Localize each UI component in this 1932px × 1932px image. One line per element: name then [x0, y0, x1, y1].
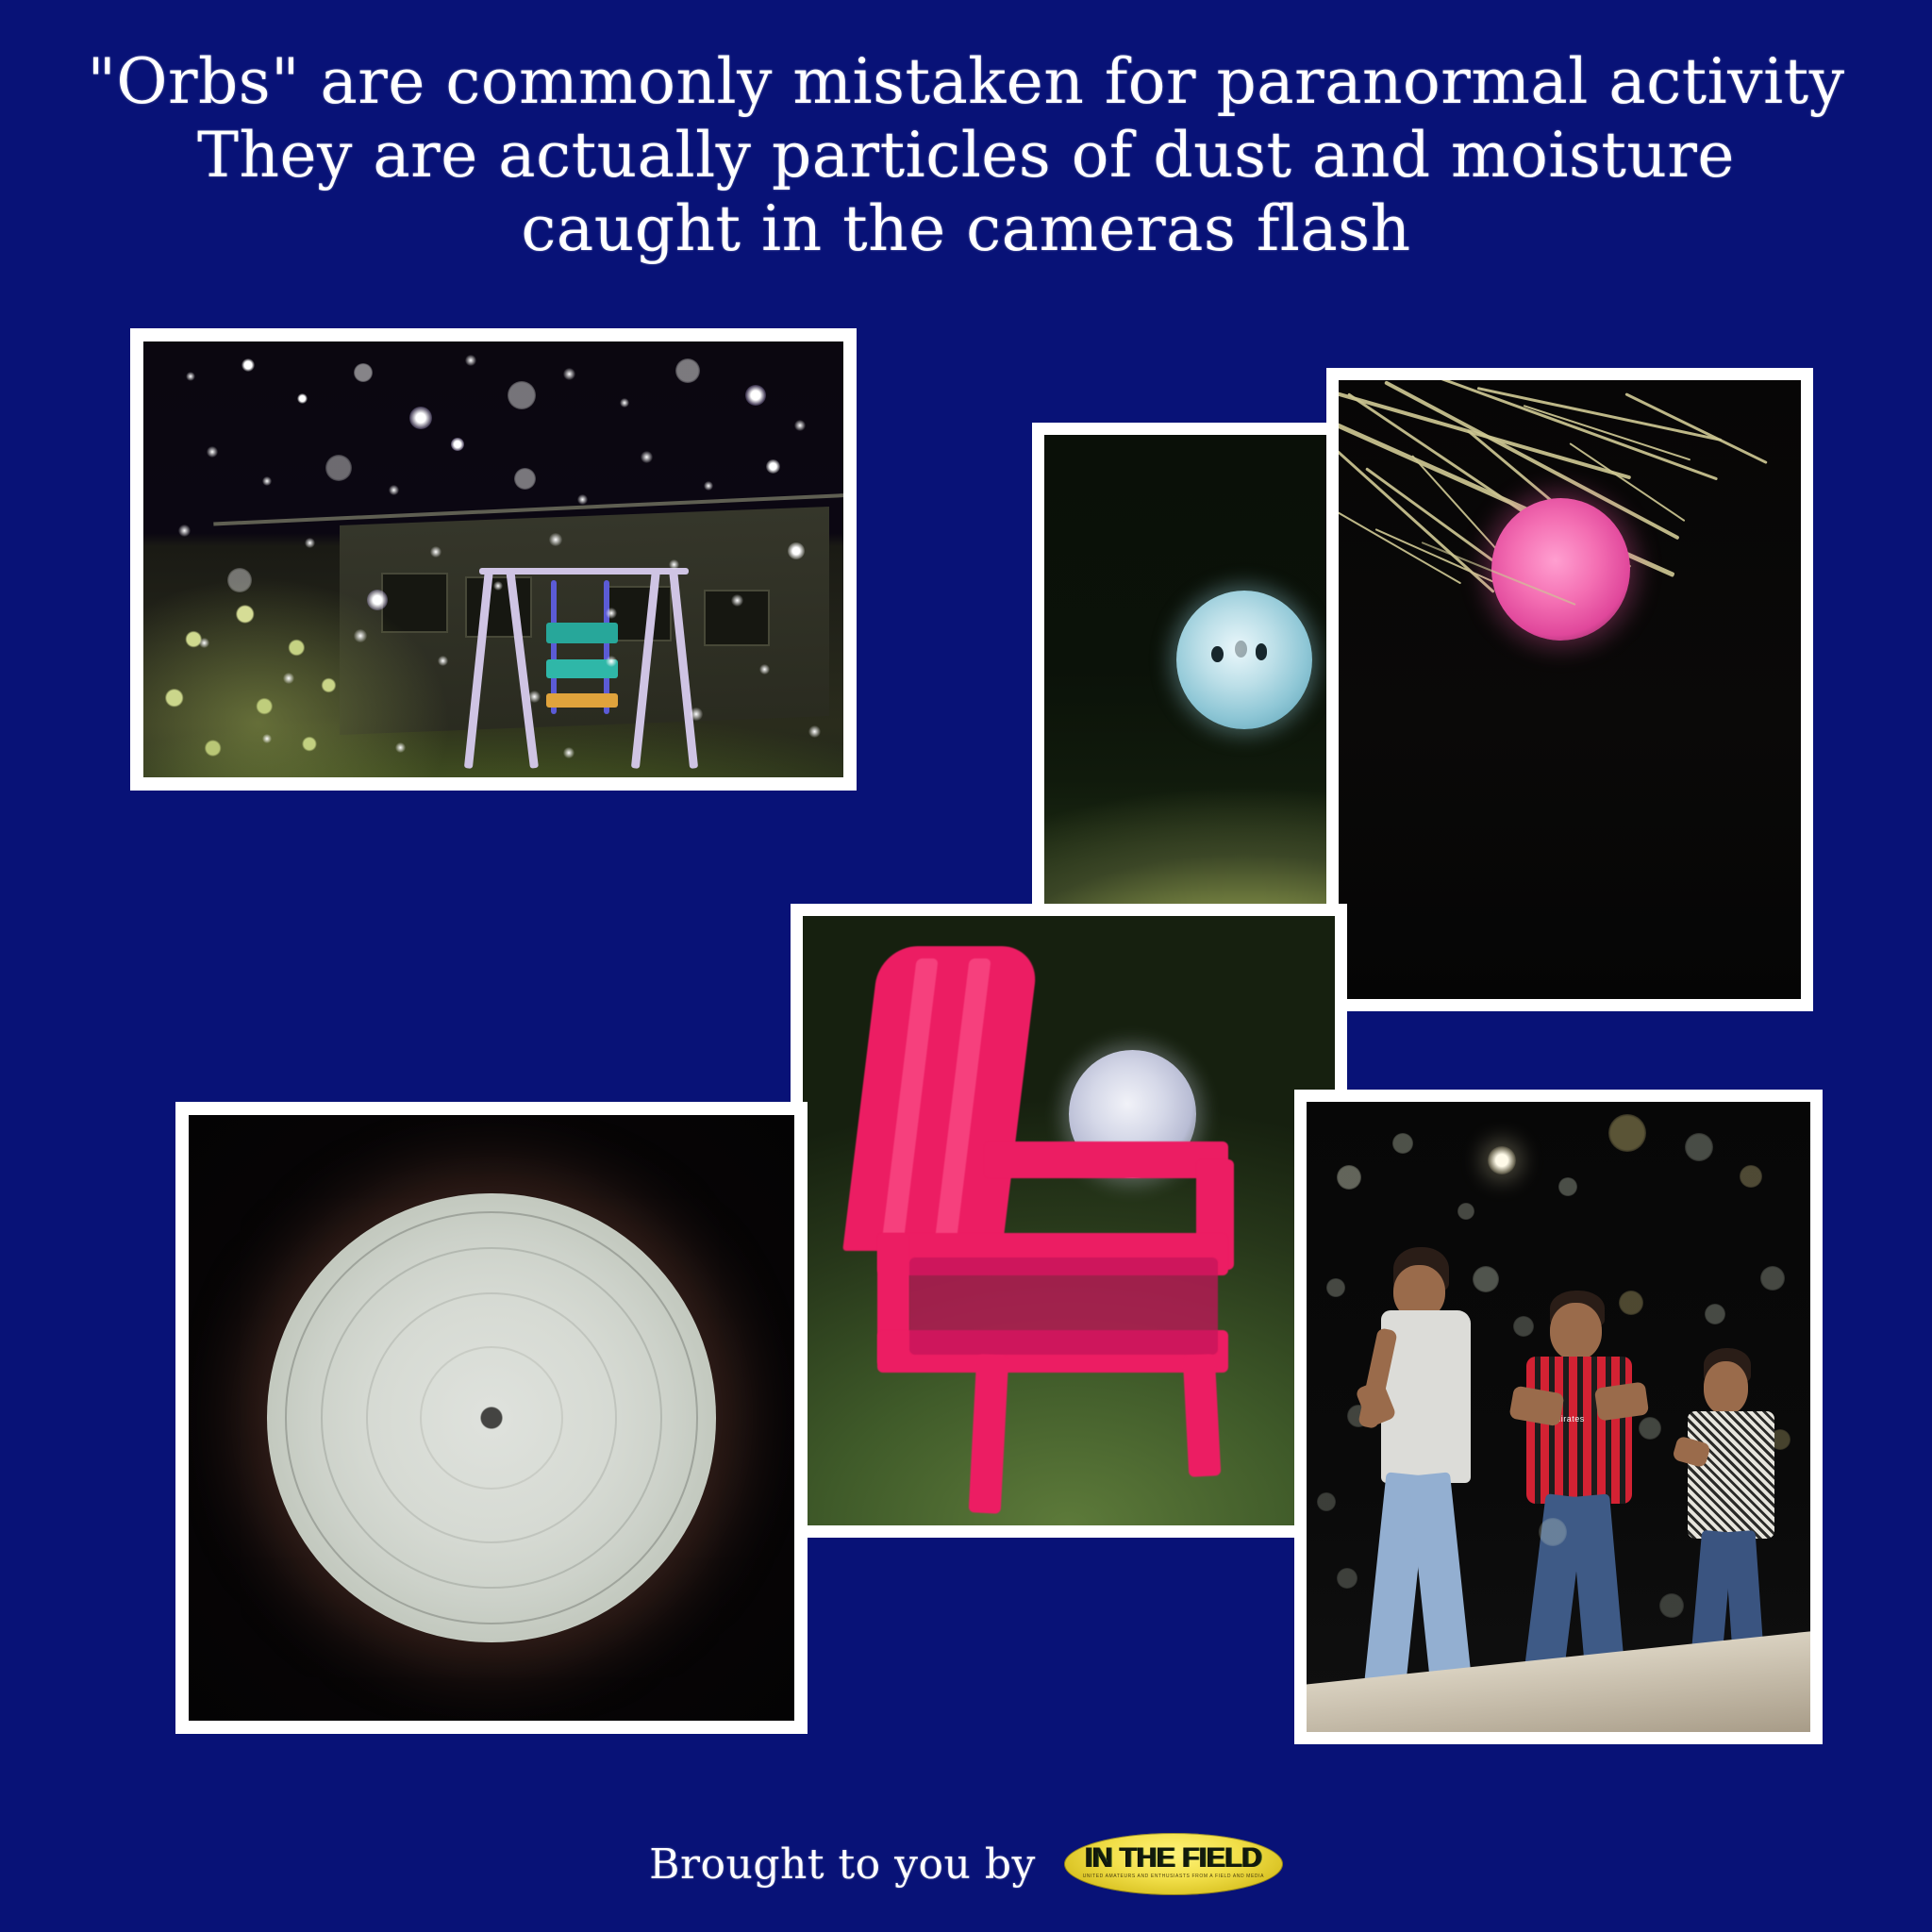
headline-line-2: They are actually particles of dust and … — [0, 119, 1932, 192]
person-center: Emirates — [1508, 1291, 1659, 1700]
person-left — [1352, 1247, 1513, 1701]
foliage-bush — [143, 576, 451, 777]
emirates-jersey — [1526, 1357, 1632, 1504]
photo-pink-orb-branches-image — [1339, 380, 1801, 999]
logo-tagline: UNITED AMATEURS AND ENTHUSIASTS FROM A F… — [1083, 1874, 1264, 1880]
blue-orb — [1176, 591, 1312, 729]
chair-rear-leg — [1183, 1354, 1222, 1477]
house-window — [704, 590, 771, 645]
photo-house-swing-orbs-image — [143, 341, 843, 777]
chair-seat-face — [909, 1257, 1218, 1355]
photo-closeup-orb — [175, 1102, 808, 1734]
closeup-orb — [267, 1193, 715, 1641]
photo-house-swing-orbs — [130, 328, 857, 791]
headline-line-3: caught in the cameras flash — [0, 192, 1932, 266]
poster-canvas: "Orbs" are commonly mistaken for paranor… — [0, 0, 1932, 1932]
chair-armrest — [984, 1141, 1228, 1178]
photo-people-bokeh-orbs: Emirates — [1294, 1090, 1823, 1744]
swing-set — [465, 559, 703, 769]
photo-closeup-orb-image — [189, 1115, 794, 1721]
credit-text: Brought to you by — [649, 1840, 1036, 1889]
chair-front-leg — [969, 1354, 1009, 1513]
footer: Brought to you by IN THE FIELD UNITED AM… — [0, 1833, 1932, 1895]
photo-pink-orb-branches — [1326, 368, 1813, 1011]
page-title: "Orbs" are commonly mistaken for paranor… — [0, 45, 1932, 266]
logo-wordmark: IN THE FIELD — [1085, 1844, 1261, 1873]
in-the-field-logo[interactable]: IN THE FIELD UNITED AMATEURS AND ENTHUSI… — [1064, 1833, 1283, 1895]
photo-pink-chair-orb — [791, 904, 1347, 1538]
photo-people-bokeh-orbs-image: Emirates — [1307, 1102, 1810, 1732]
photo-pink-chair-orb-image — [803, 916, 1335, 1525]
headline-line-1: "Orbs" are commonly mistaken for paranor… — [0, 45, 1932, 119]
pink-orb — [1491, 498, 1630, 641]
